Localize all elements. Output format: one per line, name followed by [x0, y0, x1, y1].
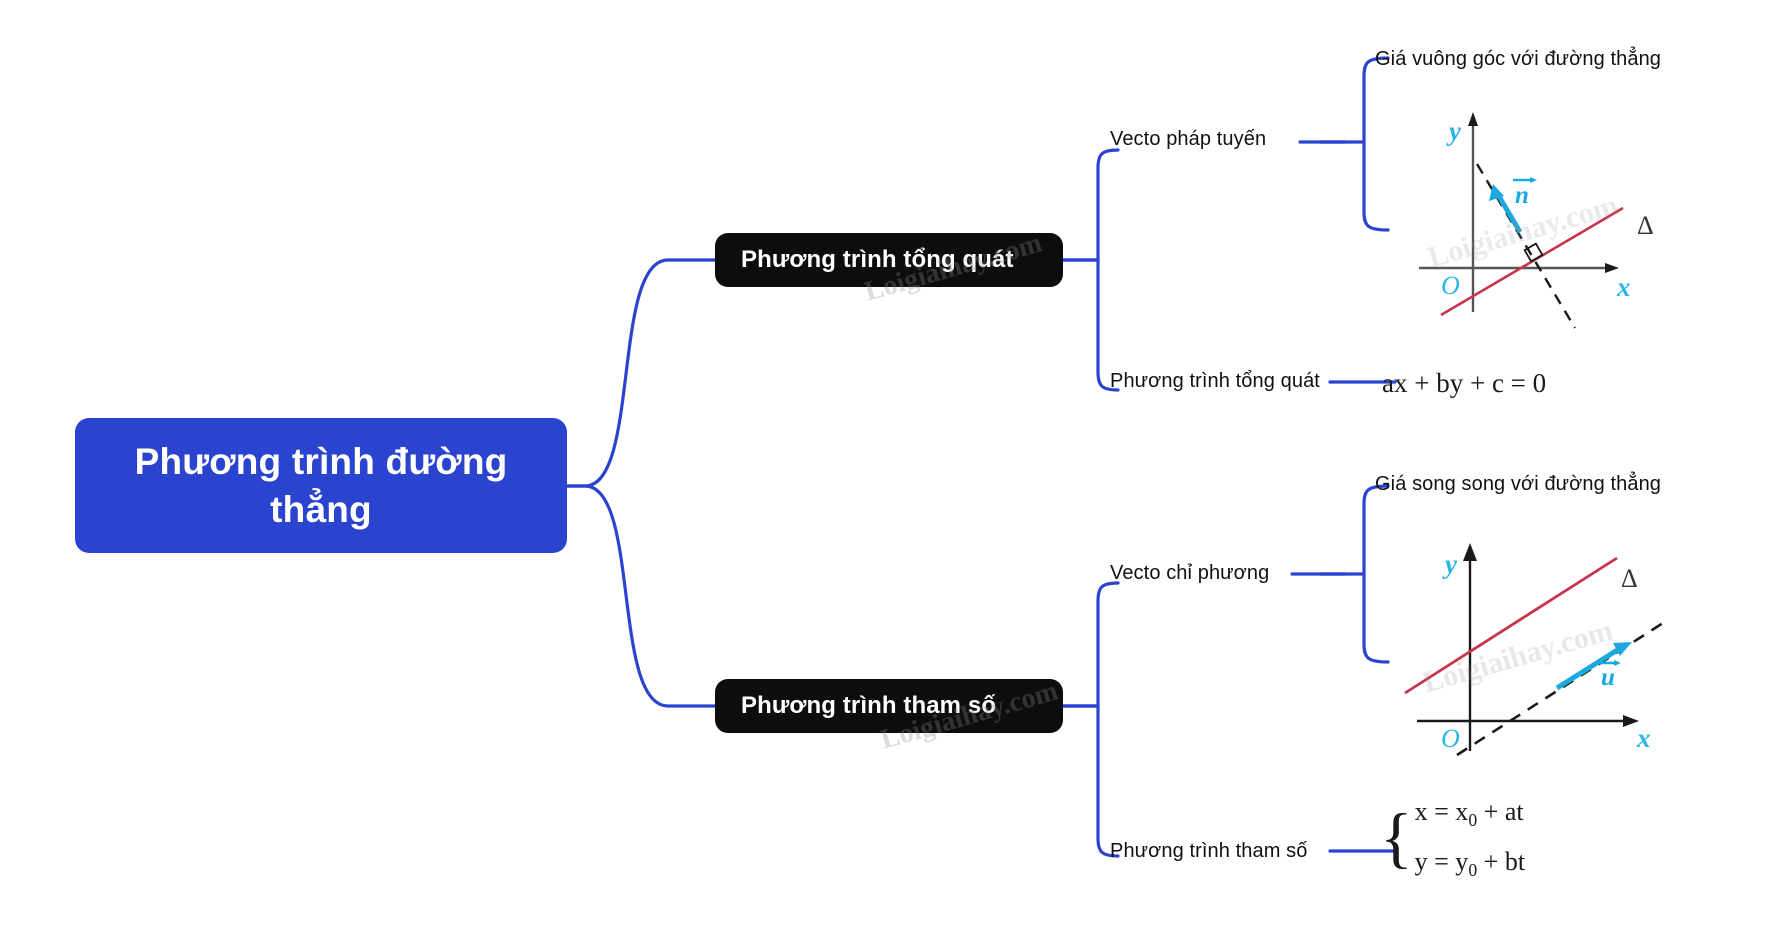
normal-vector-figure: y x O Δ n — [1385, 100, 1685, 332]
formula-line2-lhs: y = y — [1415, 847, 1469, 876]
normal-vector-label: n — [1515, 182, 1529, 209]
origin-label: O — [1441, 724, 1460, 753]
formula-line2-rhs: + bt — [1477, 847, 1525, 876]
topic-node-parametric-equation[interactable]: Phương trình tham số — [715, 679, 1063, 733]
root-node[interactable]: Phương trình đường thẳng — [75, 418, 567, 553]
axis-label-y: y — [1446, 116, 1462, 146]
root-node-label: Phương trình đường thẳng — [101, 438, 541, 533]
topic-node-general-equation[interactable]: Phương trình tổng quát — [715, 233, 1063, 287]
direction-vector-label-overbar-arrow — [1614, 660, 1621, 666]
leaf-direction-vector[interactable]: Vecto chỉ phương — [1110, 562, 1269, 585]
wire-root-to-parametric — [567, 486, 715, 706]
line-delta-label: Δ — [1637, 211, 1654, 240]
wire-root-to-general — [567, 260, 715, 486]
y-axis-arrow — [1463, 543, 1477, 561]
formula-line2-subscript: 0 — [1468, 860, 1477, 880]
topic-node-general-equation-label: Phương trình tổng quát — [741, 246, 1014, 274]
leaf-parametric-equation-label[interactable]: Phương trình tham số — [1110, 840, 1308, 863]
leaf-general-equation-label[interactable]: Phương trình tổng quát — [1110, 370, 1320, 393]
mindmap-canvas: Phương trình đường thẳng Phương trình tổ… — [0, 0, 1770, 932]
bracket-parametric — [1098, 583, 1118, 856]
formula-brace: { — [1380, 811, 1413, 864]
normal-vector-label-overbar-arrow — [1530, 177, 1537, 183]
direction-vector-label: u — [1601, 664, 1615, 691]
bracket-general — [1098, 150, 1118, 390]
axis-label-x: x — [1616, 272, 1631, 302]
formula-line1-subscript: 0 — [1468, 810, 1477, 830]
line-delta-label: Δ — [1621, 564, 1638, 593]
formula-parametric-line-2: y = y0 + bt — [1415, 847, 1525, 881]
leaf-perpendicular-description[interactable]: Giá vuông góc với đường thẳng — [1375, 48, 1661, 71]
formula-parametric-equation: { x = x0 + at y = y0 + bt — [1380, 797, 1525, 881]
formula-parametric-line-1: x = x0 + at — [1415, 797, 1525, 831]
direction-vector-figure: y x O Δ u — [1385, 525, 1685, 757]
leaf-normal-vector[interactable]: Vecto pháp tuyến — [1110, 128, 1266, 151]
axis-label-x: x — [1636, 723, 1651, 753]
origin-label: O — [1441, 271, 1460, 300]
formula-line1-lhs: x = x — [1415, 797, 1469, 826]
formula-general-equation: ax + by + c = 0 — [1382, 368, 1546, 399]
topic-node-parametric-equation-label: Phương trình tham số — [741, 692, 996, 720]
y-axis-arrow — [1468, 112, 1478, 126]
leaf-parallel-description[interactable]: Giá song song với đường thẳng — [1375, 473, 1661, 496]
axis-label-y: y — [1442, 549, 1458, 579]
formula-line1-rhs: + at — [1477, 797, 1523, 826]
